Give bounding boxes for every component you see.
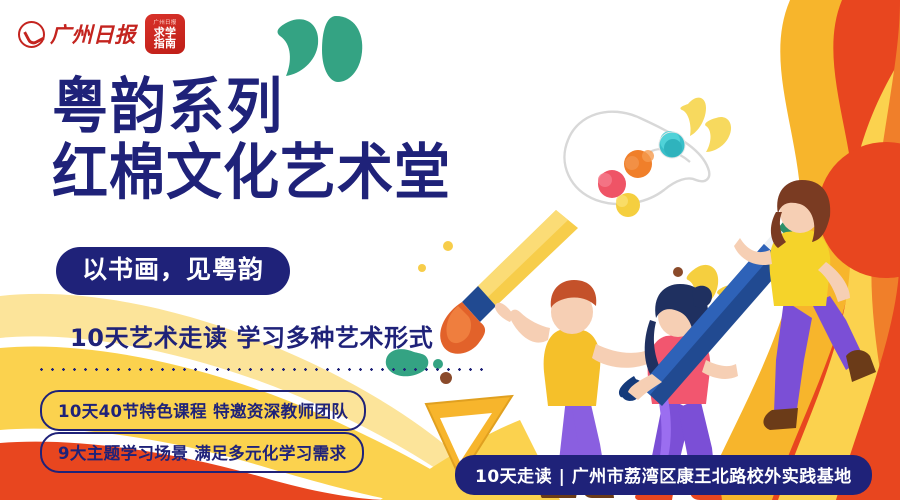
wave-right-tangerine [871, 0, 900, 470]
circle-right-red [818, 142, 900, 278]
subheading-text: 10天艺术走读 学习多种艺术形式 [70, 318, 433, 353]
brand-logo-row[interactable]: 广州日报 广州日报 求学 指南 [18, 14, 185, 54]
yellow-teardrop-top [680, 98, 706, 136]
artist-palette-icon [564, 98, 731, 217]
study-guide-badge[interactable]: 广州日报 求学 指南 [145, 14, 185, 54]
yellow-teardrop-top2 [705, 117, 731, 152]
poster-root: 广州日报 广州日报 求学 指南 粤韵系列 红棉文化艺术堂 以书画，见粤韵 10天… [0, 0, 900, 500]
yellow-teardrop-icons-middle [673, 265, 741, 318]
slogan-badge: 以书画，见粤韵 [56, 247, 290, 295]
dotted-divider [36, 368, 484, 371]
wave-right-orange [772, 0, 900, 500]
headline-line-1: 粤韵系列 [52, 72, 451, 143]
large-pencil-icon [616, 214, 812, 406]
brand-name: 广州日报 [50, 24, 136, 45]
headline-line-2: 红棉文化艺术堂 [52, 138, 451, 209]
badge-line-2: 指南 [154, 38, 177, 49]
wave-right-yellow [778, 60, 900, 500]
figure-woman-yellow-top [734, 180, 876, 430]
paintbrush-icon [386, 210, 578, 384]
feature-pill-courses: 10天40节特色课程 特邀资深教师团队 [40, 390, 366, 431]
guangzhou-daily-logo[interactable]: 广州日报 [18, 21, 136, 48]
newspaper-swoosh-icon [18, 21, 45, 48]
wave-right-edge [836, 0, 900, 500]
wave-right-gold [700, 0, 900, 500]
footer-location-banner: 10天走读 | 广州市荔湾区康王北路校外实践基地 [455, 455, 872, 495]
page-title: 粤韵系列 红棉文化艺术堂 [52, 72, 451, 204]
feature-pill-themes: 9大主题学习场景 满足多元化学习需求 [40, 432, 364, 473]
